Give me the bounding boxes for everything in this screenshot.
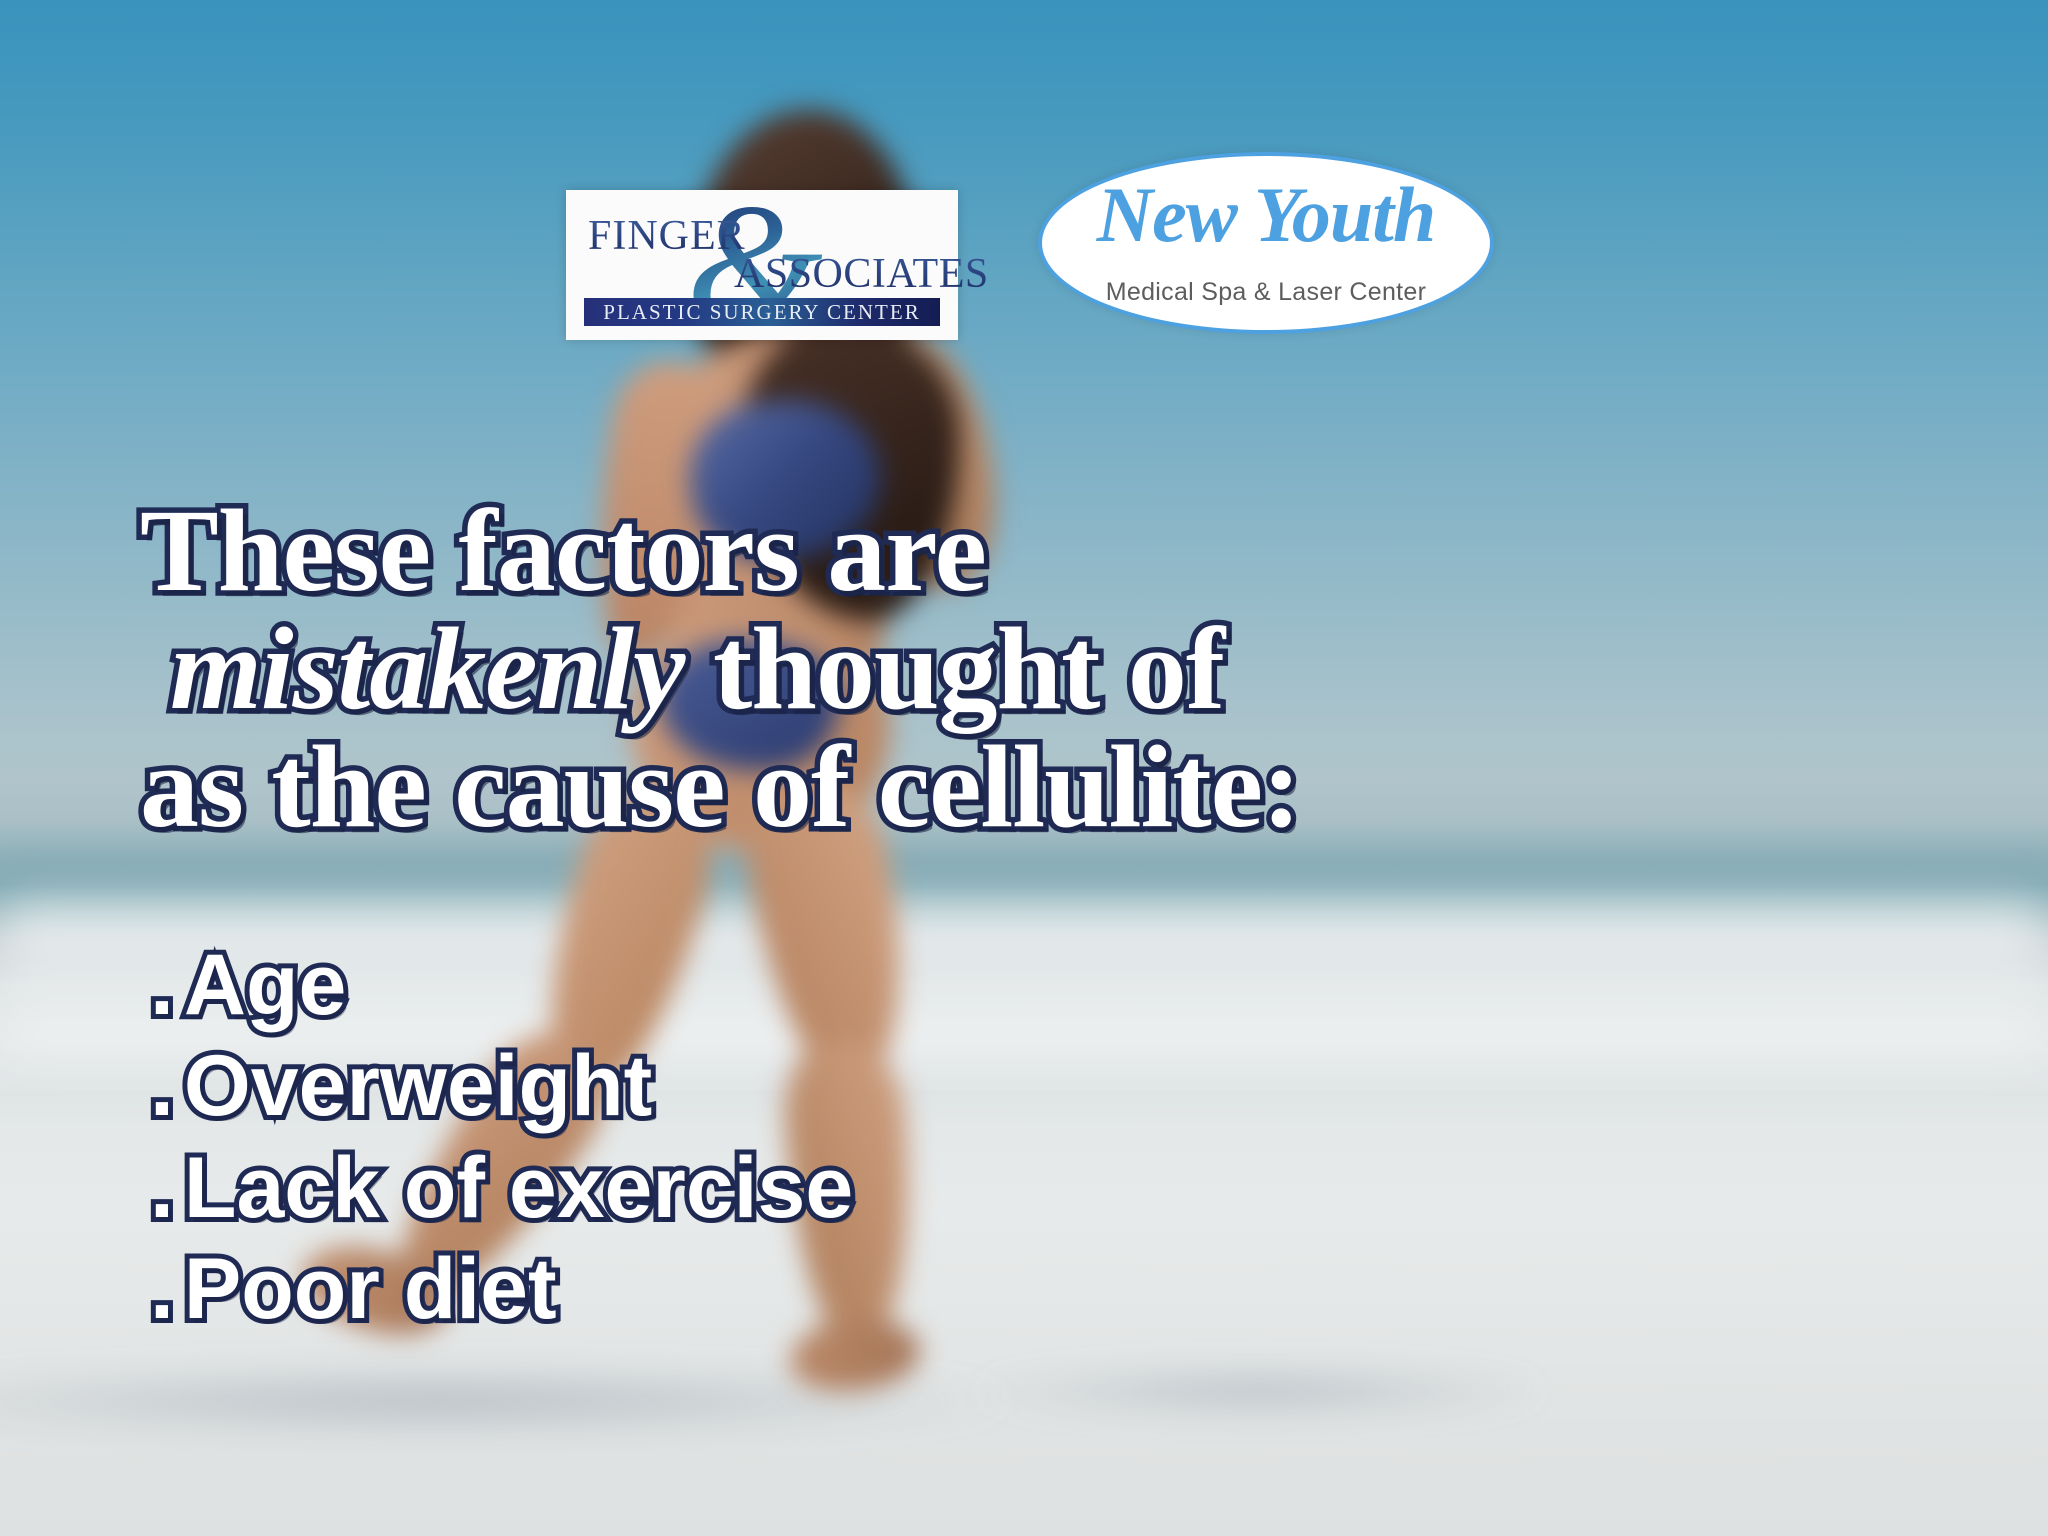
finger-associates-tagline: PLASTIC SURGERY CENTER <box>603 300 920 325</box>
finger-associates-word-finger: FINGER <box>588 212 746 260</box>
headline-block: These factors are mistakenly thought of … <box>140 492 1700 846</box>
poster-canvas: & FINGER ASSOCIATES PLASTIC SURGERY CENT… <box>0 0 2048 1536</box>
list-item-label: Lack of exercise <box>184 1140 853 1236</box>
list-item: .Age <box>150 935 1450 1036</box>
factors-list: .Age .Overweight .Lack of exercise .Poor… <box>150 935 1450 1341</box>
bullet-marker-icon: . <box>150 1241 174 1337</box>
finger-associates-word-associates: ASSOCIATES <box>734 250 989 298</box>
finger-associates-logo-inner: & FINGER ASSOCIATES PLASTIC SURGERY CENT… <box>566 190 958 340</box>
headline-line-2-rest: thought of <box>684 603 1224 734</box>
finger-associates-logo[interactable]: & FINGER ASSOCIATES PLASTIC SURGERY CENT… <box>566 190 958 340</box>
list-item-label: Age <box>184 937 346 1033</box>
new-youth-logo[interactable]: New Youth Medical Spa & Laser Center <box>1038 152 1494 334</box>
finger-associates-tagline-bar: PLASTIC SURGERY CENTER <box>584 298 940 326</box>
list-item-label: Overweight <box>184 1038 652 1134</box>
headline-line-1: These factors are <box>140 492 1700 610</box>
bullet-marker-icon: . <box>150 1140 174 1236</box>
list-item-label: Poor diet <box>184 1241 557 1337</box>
new-youth-wordmark: New Youth <box>1042 174 1490 256</box>
list-item: .Poor diet <box>150 1239 1450 1340</box>
list-item: .Lack of exercise <box>150 1138 1450 1239</box>
headline-line-3: as the cause of cellulite: <box>140 728 1700 846</box>
bullet-marker-icon: . <box>150 1038 174 1134</box>
bullet-marker-icon: . <box>150 937 174 1033</box>
headline-emphasis-word: mistakenly <box>170 603 684 734</box>
list-item: .Overweight <box>150 1036 1450 1137</box>
headline-line-2: mistakenly thought of <box>140 610 1700 728</box>
new-youth-tagline: Medical Spa & Laser Center <box>1042 278 1490 307</box>
